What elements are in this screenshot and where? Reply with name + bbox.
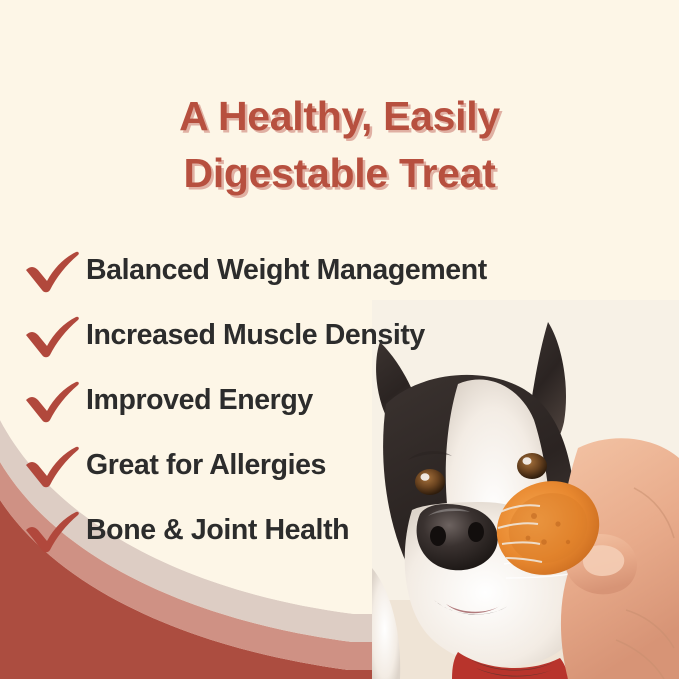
benefit-label: Bone & Joint Health xyxy=(86,514,349,547)
benefits-list: Balanced Weight Management Increased Mus… xyxy=(24,238,644,563)
list-item: Balanced Weight Management xyxy=(24,238,644,303)
check-icon xyxy=(24,443,82,489)
list-item: Increased Muscle Density xyxy=(24,303,644,368)
check-icon xyxy=(24,313,82,359)
list-item: Great for Allergies xyxy=(24,433,644,498)
benefit-label: Balanced Weight Management xyxy=(86,254,487,287)
promotional-poster: A Healthy, Easily Digestable Treat Balan… xyxy=(0,0,679,679)
benefit-label: Great for Allergies xyxy=(86,449,326,482)
list-item: Bone & Joint Health xyxy=(24,498,644,563)
list-item: Improved Energy xyxy=(24,368,644,433)
benefit-label: Improved Energy xyxy=(86,384,313,417)
benefit-label: Increased Muscle Density xyxy=(86,319,425,352)
check-icon xyxy=(24,248,82,294)
check-icon xyxy=(24,508,82,554)
check-icon xyxy=(24,378,82,424)
